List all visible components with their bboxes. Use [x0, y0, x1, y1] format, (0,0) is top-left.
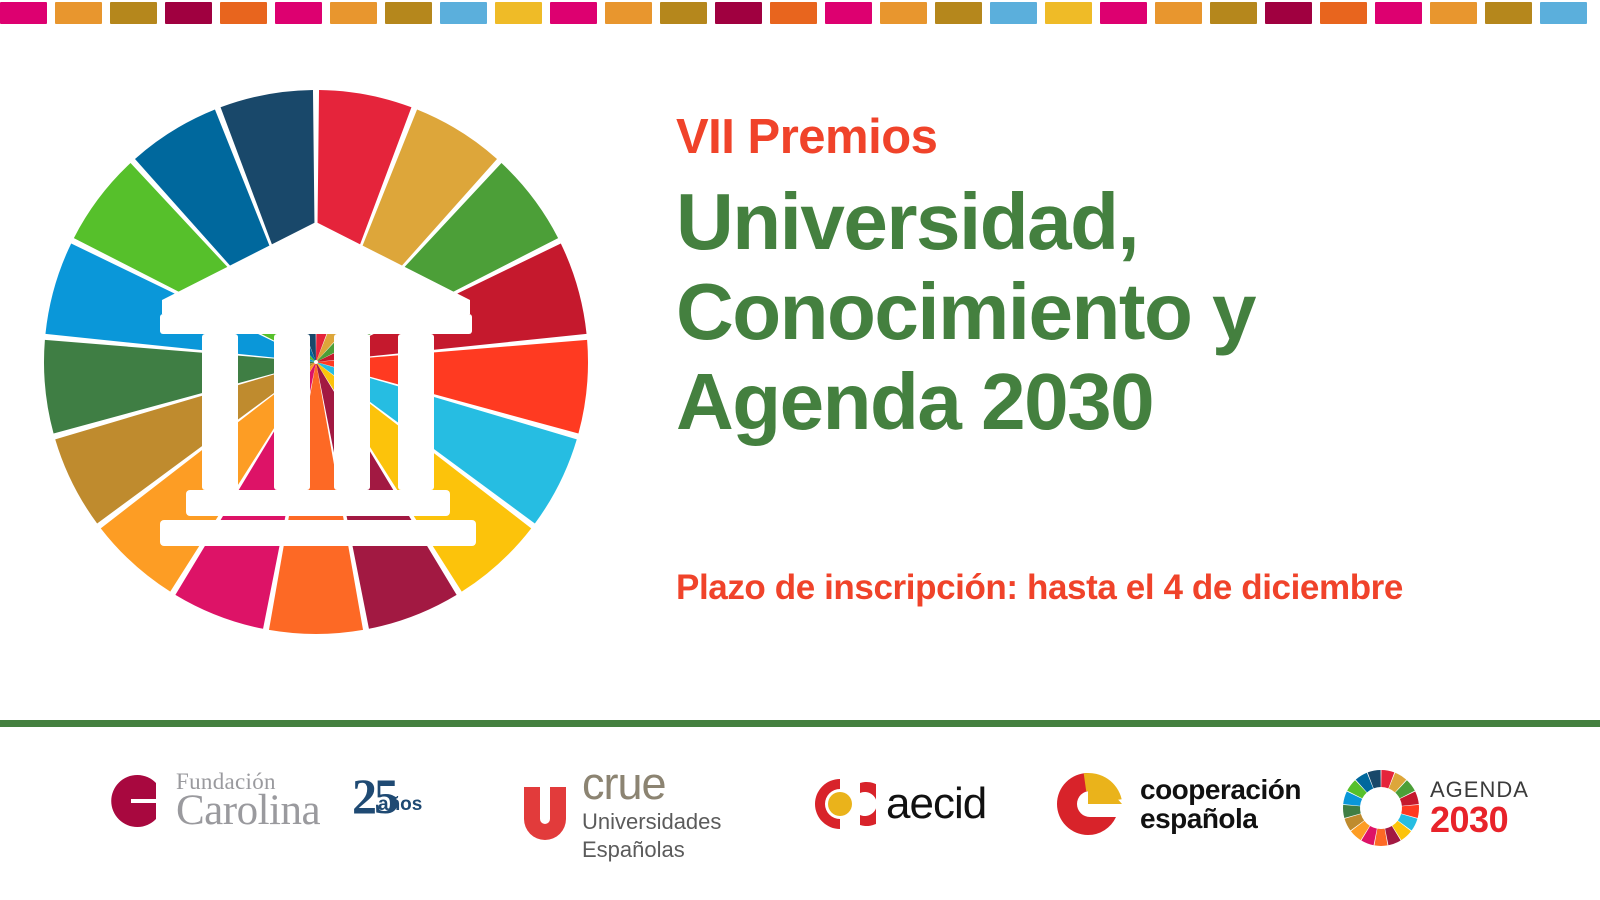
aecid-mark-icon	[800, 773, 876, 835]
sponsor-logo-row: Fundación Carolina 25 años crue Universi…	[0, 745, 1600, 895]
headline-block: VII Premios Universidad, Conocimiento y …	[676, 112, 1556, 446]
wheel-segment	[1374, 829, 1387, 846]
color-tile	[0, 2, 47, 24]
color-tile	[1045, 2, 1092, 24]
color-tile	[1265, 2, 1312, 24]
headline-line-1: Universidad,	[676, 177, 1556, 267]
color-tile	[165, 2, 212, 24]
crue-shield-u-icon	[522, 785, 568, 841]
aecid-wordmark: aecid	[886, 779, 986, 829]
25-anios-logo: 25 años	[352, 775, 422, 818]
aecid-logo: aecid	[800, 773, 986, 835]
carolina-c-icon	[100, 770, 162, 832]
cooperacion-line-1: cooperación	[1140, 775, 1301, 804]
color-tile	[550, 2, 597, 24]
color-tile	[1485, 2, 1532, 24]
color-tile	[935, 2, 982, 24]
color-tile	[1100, 2, 1147, 24]
deadline-text: Plazo de inscripción: hasta el 4 de dici…	[676, 568, 1403, 608]
color-tile	[605, 2, 652, 24]
color-tile	[275, 2, 322, 24]
color-tile	[440, 2, 487, 24]
agenda-year: 2030	[1430, 802, 1529, 838]
sdg-wheel-icon	[1342, 769, 1420, 847]
green-divider	[0, 720, 1600, 727]
anios-word: años	[378, 794, 422, 816]
headline-line-2: Conocimiento y	[676, 267, 1556, 357]
color-tile	[990, 2, 1037, 24]
fundacion-carolina-logo: Fundación Carolina	[100, 770, 320, 832]
agenda-2030-logo: AGENDA 2030	[1342, 769, 1529, 847]
crue-logo: crue Universidades Españolas	[522, 763, 721, 863]
color-tile	[495, 2, 542, 24]
color-tile	[330, 2, 377, 24]
emblem-svg	[42, 88, 590, 636]
crue-sub-2: Españolas	[582, 838, 721, 863]
sdg-wheel-university-emblem	[42, 88, 590, 636]
carolina-line-2: Carolina	[176, 789, 320, 832]
color-tile	[715, 2, 762, 24]
color-tile	[220, 2, 267, 24]
color-tile	[385, 2, 432, 24]
color-tile	[660, 2, 707, 24]
color-tile	[1375, 2, 1422, 24]
color-tile	[1320, 2, 1367, 24]
agenda-word: AGENDA	[1430, 779, 1529, 801]
color-tile	[770, 2, 817, 24]
cooperacion-line-2: española	[1140, 804, 1301, 833]
color-tile	[55, 2, 102, 24]
headline-line-3: Agenda 2030	[676, 357, 1556, 447]
page-title: Universidad, Conocimiento y Agenda 2030	[676, 177, 1556, 446]
crue-wordmark: crue	[582, 763, 721, 806]
crue-sub-1: Universidades	[582, 810, 721, 835]
color-tile	[1540, 2, 1587, 24]
eyebrow-text: VII Premios	[676, 112, 1556, 163]
poster-canvas: VII Premios Universidad, Conocimiento y …	[0, 0, 1600, 900]
color-tile	[1430, 2, 1477, 24]
decorative-color-strip	[0, 0, 1600, 26]
color-tile	[880, 2, 927, 24]
color-tile	[1210, 2, 1257, 24]
cooperacion-e-icon	[1050, 771, 1126, 837]
cooperacion-espanola-logo: cooperación española	[1050, 771, 1301, 837]
color-tile	[1155, 2, 1202, 24]
color-tile	[110, 2, 157, 24]
color-tile	[825, 2, 872, 24]
